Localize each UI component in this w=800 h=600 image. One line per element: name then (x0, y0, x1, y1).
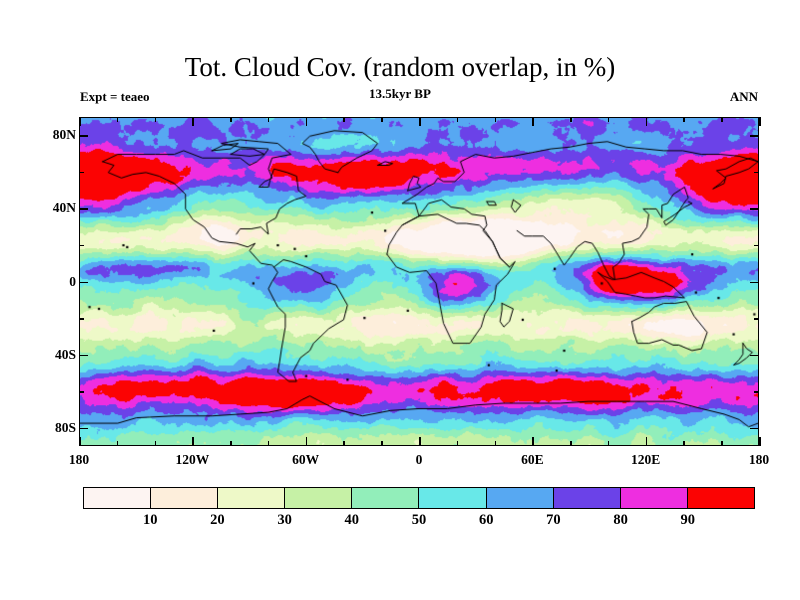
tick-mark (343, 117, 345, 122)
tick-mark (79, 428, 88, 430)
tick-mark (155, 441, 157, 446)
tick-mark (155, 117, 157, 122)
colorbar-band-80-90 (621, 488, 688, 508)
cloud-cover-map (80, 118, 758, 445)
tick-mark (268, 117, 270, 122)
tick-mark (306, 117, 308, 126)
tick-mark (754, 318, 759, 320)
tick-mark (495, 441, 497, 446)
tick-mark (721, 117, 723, 122)
tick-mark (683, 441, 685, 446)
tick-mark (79, 391, 84, 393)
tick-mark (750, 428, 759, 430)
tick-mark (608, 441, 610, 446)
colorbar-tick-70: 70 (546, 512, 561, 529)
tick-mark (79, 117, 81, 126)
colorbar-band-20-30 (218, 488, 285, 508)
tick-mark (754, 172, 759, 174)
y-tick-label-80S: 80S (55, 420, 76, 436)
colorbar-band-90-100 (688, 488, 754, 508)
tick-mark (79, 135, 88, 137)
chart-title: Tot. Cloud Cov. (random overlap, in %) (0, 52, 800, 83)
colorbar-tick-90: 90 (681, 512, 696, 529)
colorbar (83, 487, 755, 509)
tick-mark (192, 437, 194, 446)
tick-mark (646, 117, 648, 126)
tick-mark (343, 441, 345, 446)
tick-mark (750, 282, 759, 284)
x-tick-label-2: 60W (292, 452, 319, 468)
x-tick-label-5: 120E (631, 452, 660, 468)
tick-mark (79, 318, 84, 320)
tick-mark (570, 441, 572, 446)
colorbar-band-40-50 (352, 488, 419, 508)
colorbar-tick-40: 40 (345, 512, 360, 529)
tick-mark (306, 437, 308, 446)
tick-mark (495, 117, 497, 122)
tick-mark (570, 117, 572, 122)
tick-mark (754, 245, 759, 247)
x-tick-label-6: 180 (749, 452, 769, 468)
tick-mark (750, 355, 759, 357)
tick-mark (117, 441, 119, 446)
tick-mark (79, 172, 84, 174)
tick-mark (759, 117, 761, 126)
tick-mark (608, 117, 610, 122)
tick-mark (457, 441, 459, 446)
colorbar-band-10-20 (151, 488, 218, 508)
y-tick-label-80N: 80N (53, 127, 76, 143)
colorbar-band-70-80 (554, 488, 621, 508)
y-tick-label-40N: 40N (53, 200, 76, 216)
colorbar-tick-60: 60 (479, 512, 494, 529)
tick-mark (79, 208, 88, 210)
colorbar-tick-80: 80 (613, 512, 628, 529)
x-tick-label-4: 60E (521, 452, 544, 468)
colorbar-band-50-60 (419, 488, 486, 508)
x-tick-label-0: 180 (69, 452, 89, 468)
map-plot-area (79, 117, 759, 446)
colorbar-band-30-40 (285, 488, 352, 508)
tick-mark (532, 437, 534, 446)
x-tick-label-1: 120W (175, 452, 209, 468)
tick-mark (750, 208, 759, 210)
y-tick-label-0: 0 (69, 274, 76, 290)
tick-mark (79, 437, 81, 446)
tick-mark (457, 117, 459, 122)
tick-mark (646, 437, 648, 446)
tick-mark (230, 117, 232, 122)
tick-mark (683, 117, 685, 122)
experiment-label: Expt = teaeo (80, 89, 150, 105)
tick-mark (754, 391, 759, 393)
colorbar-tick-10: 10 (143, 512, 158, 529)
tick-mark (79, 245, 84, 247)
tick-mark (192, 117, 194, 126)
y-tick-label-40S: 40S (55, 347, 76, 363)
colorbar-tick-20: 20 (210, 512, 225, 529)
tick-mark (230, 441, 232, 446)
tick-mark (381, 441, 383, 446)
tick-mark (759, 437, 761, 446)
tick-mark (750, 135, 759, 137)
tick-mark (268, 441, 270, 446)
tick-mark (721, 441, 723, 446)
tick-mark (117, 117, 119, 122)
colorbar-tick-50: 50 (412, 512, 427, 529)
period-label: ANN (730, 89, 758, 105)
tick-mark (381, 117, 383, 122)
x-tick-label-3: 0 (416, 452, 423, 468)
colorbar-tick-30: 30 (277, 512, 292, 529)
tick-mark (419, 437, 421, 446)
tick-mark (532, 117, 534, 126)
colorbar-band-0-10 (84, 488, 151, 508)
figure-root: Tot. Cloud Cov. (random overlap, in %) 1… (0, 0, 800, 600)
tick-mark (79, 282, 88, 284)
colorbar-band-60-70 (487, 488, 554, 508)
tick-mark (79, 355, 88, 357)
tick-mark (419, 117, 421, 126)
